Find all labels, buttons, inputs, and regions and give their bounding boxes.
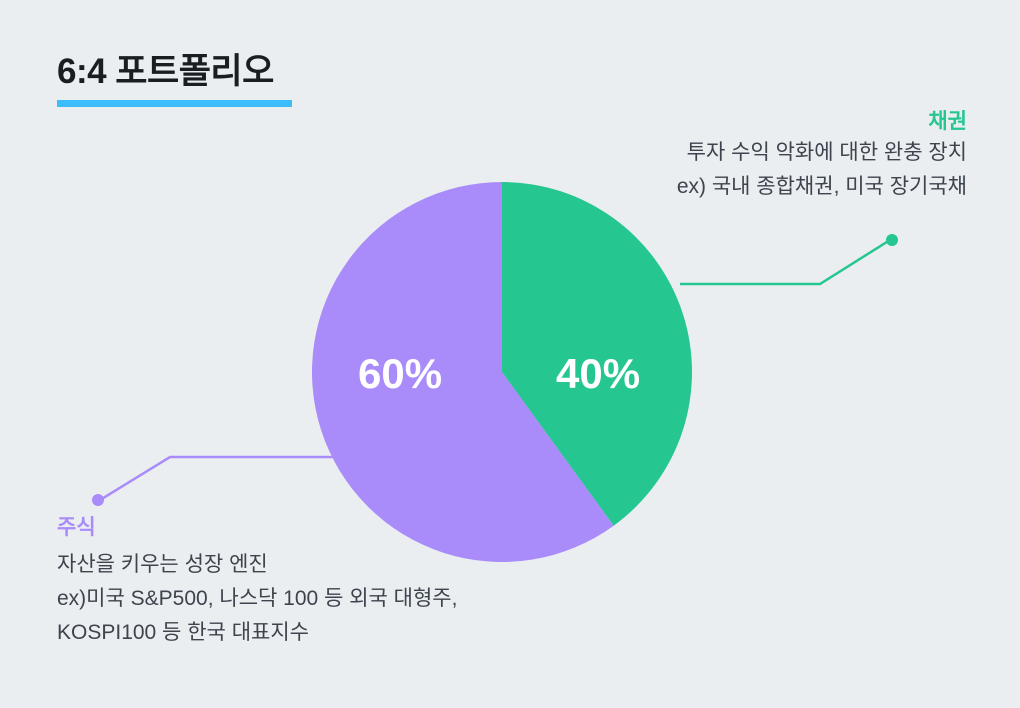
leader-dot-bonds (886, 234, 898, 246)
annotation-stocks-line-2: ex)미국 S&P500, 나스닥 100 등 외국 대형주, (57, 582, 457, 616)
annotation-stocks-line-1: 자산을 키우는 성장 엔진 (57, 548, 457, 582)
leader-line-stocks (92, 457, 333, 506)
annotation-stocks-line-3: KOSPI100 등 한국 대표지수 (57, 616, 457, 650)
annotation-bonds-body: 투자 수익 악화에 대한 완충 장치 ex) 국내 종합채권, 미국 장기국채 (677, 136, 967, 204)
annotation-stocks: 주식 자산을 키우는 성장 엔진 ex)미국 S&P500, 나스닥 100 등… (57, 514, 457, 650)
leader-dot-stocks (92, 494, 104, 506)
leader-line-bonds-path (680, 240, 890, 284)
annotation-bonds-line-2: ex) 국내 종합채권, 미국 장기국채 (677, 170, 967, 204)
pie-label-bonds: 40% (556, 350, 640, 398)
chart-canvas: 6:4 포트폴리오 60% 40% 채권 투자 수익 악화에 대한 완충 장치 … (0, 0, 1020, 708)
pie-label-stocks: 60% (358, 350, 442, 398)
annotation-bonds-title: 채권 (677, 108, 967, 136)
leader-line-bonds (680, 234, 898, 284)
annotation-bonds: 채권 투자 수익 악화에 대한 완충 장치 ex) 국내 종합채권, 미국 장기… (677, 108, 967, 204)
annotation-stocks-body: 자산을 키우는 성장 엔진 ex)미국 S&P500, 나스닥 100 등 외국… (57, 548, 457, 650)
annotation-bonds-line-1: 투자 수익 악화에 대한 완충 장치 (677, 136, 967, 170)
leader-line-stocks-path (100, 457, 333, 500)
annotation-stocks-title: 주식 (57, 514, 457, 542)
